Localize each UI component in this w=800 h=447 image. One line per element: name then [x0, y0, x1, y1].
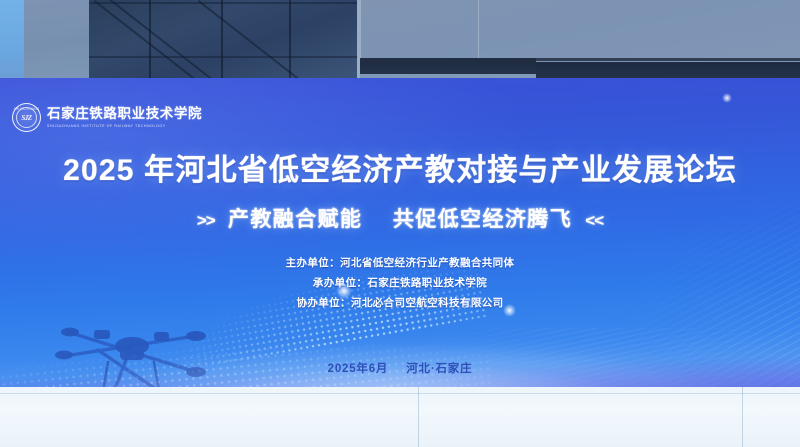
institution-name-cn: 石家庄铁路职业技术学院	[47, 107, 202, 122]
organizer-line-co-organizer: 协办单位：河北必合司空航空科技有限公司	[0, 298, 800, 309]
banner-subtitle: >> 产教融合赋能 共促低空经济腾飞 <<	[0, 209, 800, 230]
subtitle-right-chevron-icon: <<	[585, 211, 603, 230]
event-date: 2025年6月	[328, 363, 389, 375]
subtitle-part-two: 共促低空经济腾飞	[393, 208, 572, 231]
glass-diagonal-bracing	[89, 0, 357, 78]
seal-arc-text: SHIJIAZHUANG	[14, 107, 40, 111]
glass-curtain-wall	[89, 0, 360, 78]
subtitle-left-chevron-icon: >>	[197, 211, 215, 230]
sky-left-strip	[0, 0, 24, 90]
subtitle-part-one: 产教融合赋能	[228, 208, 362, 231]
organizer-list: 主办单位：河北省低空经济行业产教融合共同体 承办单位：石家庄铁路职业技术学院 协…	[0, 258, 800, 318]
organizer-line-organizer: 承办单位：石家庄铁路职业技术学院	[0, 278, 800, 289]
sparkle-glint	[722, 93, 732, 103]
building-wall-right	[360, 0, 800, 74]
building-facade	[24, 0, 800, 84]
seal-monogram: SJZ	[21, 114, 31, 122]
institution-name-en: SHIJIAZHUANG INSTITUTE OF RAILWAY TECHNO…	[47, 124, 202, 128]
wall-below-banner	[0, 387, 800, 447]
banner-footer: 2025年6月 河北·石家庄	[0, 360, 800, 376]
institution-logo: SHIJIAZHUANG SJZ 石家庄铁路职业技术学院 SHIJIAZHUAN…	[12, 103, 202, 132]
screenshot-root: SHIJIAZHUANG SJZ 石家庄铁路职业技术学院 SHIJIAZHUAN…	[0, 0, 800, 447]
event-location: 河北·石家庄	[406, 363, 472, 375]
university-seal-icon: SHIJIAZHUANG SJZ	[12, 103, 41, 132]
banner-main-title: 2025 年河北省低空经济产教对接与产业发展论坛	[0, 156, 800, 186]
organizer-line-host: 主办单位：河北省低空经济行业产教融合共同体	[0, 258, 800, 269]
